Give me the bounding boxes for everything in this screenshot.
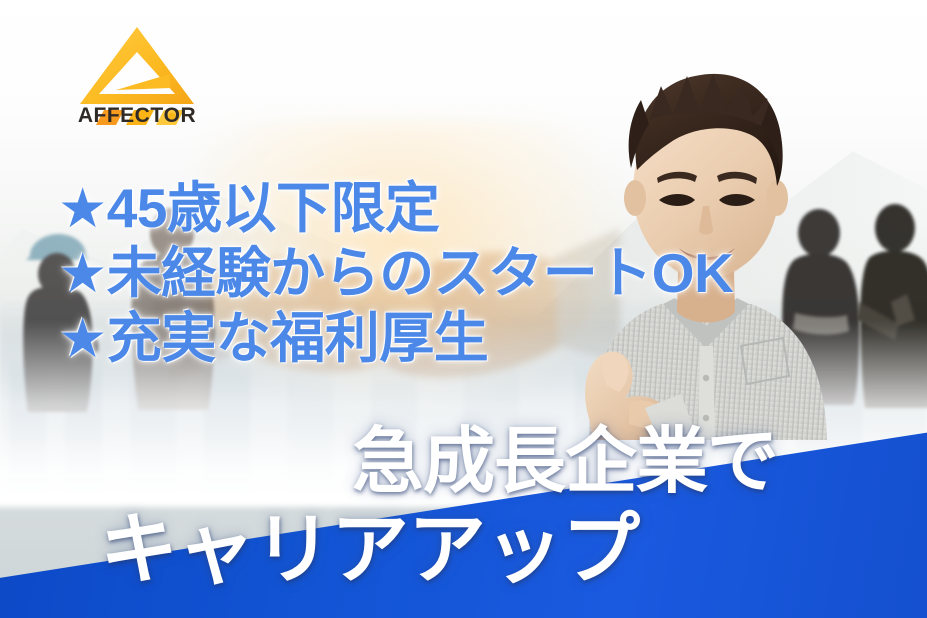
wordmark-o: O	[164, 104, 181, 128]
logo-triangle-icon	[80, 27, 194, 104]
headline-bullet-2: ★未経験からのスタートOK	[58, 241, 878, 306]
recruitment-banner: AFFECTOR ★45歳以下限定 ★未経験からのスタートOK ★充実な福利厚生…	[0, 0, 927, 618]
tagline-line-1: 急成長企業で	[352, 423, 778, 501]
headline-bullet-1: ★45歳以下限定	[58, 176, 878, 241]
wordmark-prefix: AFFECT	[78, 104, 164, 127]
wordmark-suffix: R	[181, 104, 197, 127]
tagline-line-2: キャリアアップ	[100, 507, 639, 591]
affector-wordmark: AFFECTOR	[72, 104, 202, 128]
headline-bullet-3: ★充実な福利厚生	[58, 306, 878, 371]
headline-bullet-list: ★45歳以下限定 ★未経験からのスタートOK ★充実な福利厚生	[58, 176, 878, 371]
wordmark-o-dot-icon	[169, 113, 176, 120]
logo-inner-wedge-icon	[116, 74, 170, 90]
